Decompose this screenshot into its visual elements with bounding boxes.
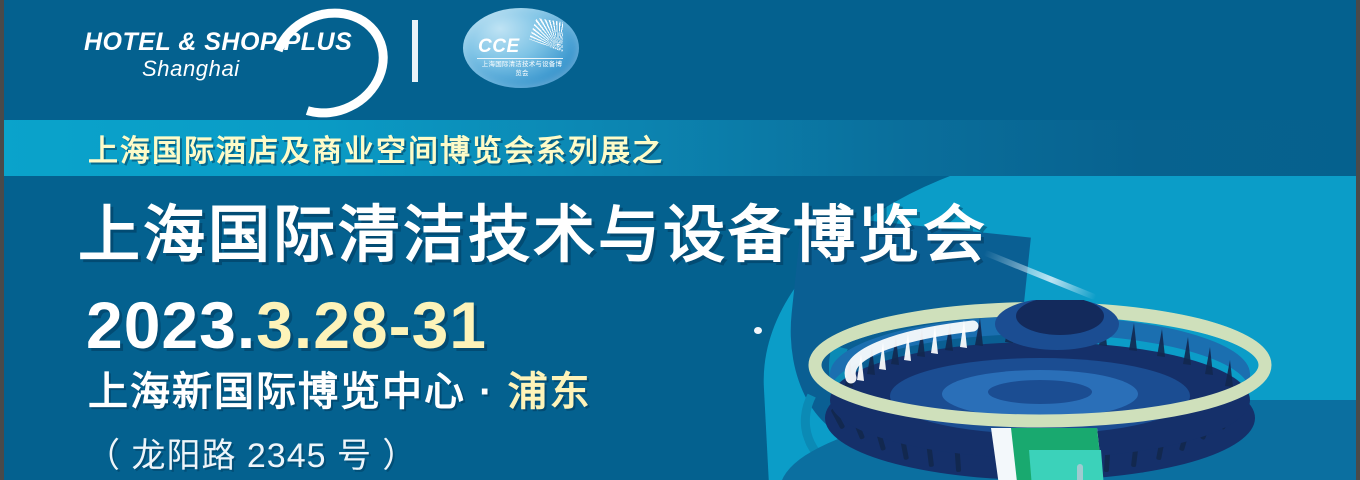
page-title: 上海国际清洁技术与设备博览会 [78, 184, 988, 274]
cce-rule [477, 58, 563, 59]
event-date-range: 3.28-31 [256, 288, 487, 362]
event-date-year: 2023. [86, 288, 256, 362]
event-venue-name: 上海新国际博览中心 · [88, 370, 494, 414]
cce-subtitle: 上海国际清洁技术与设备博览会 [479, 60, 565, 78]
logo-divider [412, 20, 418, 82]
event-address: （ 龙阳路 2345 号 ） [86, 428, 417, 477]
series-band: 上海国际酒店及商业空间博览会系列展之 [0, 120, 1360, 176]
event-venue-district: 浦东 [508, 370, 592, 414]
series-band-text: 上海国际酒店及商业空间博览会系列展之 [88, 126, 664, 170]
hotel-shop-plus-wordmark: HOTEL & SHOP PLUS [84, 28, 352, 57]
frame-left [0, 0, 4, 480]
event-date: 2023.3.28-31 [86, 292, 487, 358]
exhibition-banner: 上海国际酒店及商业空间博览会系列展之 HOTEL & SHOP PLUS Sha… [0, 0, 1360, 480]
cce-acronym: CCE [478, 36, 520, 58]
logo-row: HOTEL & SHOP PLUS Shanghai CCE 上海国际清洁技术与… [0, 0, 700, 100]
frame-right [1356, 0, 1360, 480]
event-venue: 上海新国际博览中心 · 浦东 [88, 372, 592, 412]
hotel-shop-plus-city: Shanghai [142, 56, 240, 82]
cce-fan-icon [529, 18, 563, 52]
floor-scrubber-brush-illustration [805, 300, 1275, 480]
cce-logo[interactable]: CCE 上海国际清洁技术与设备博览会 [463, 8, 579, 88]
hotel-shop-plus-logo[interactable]: HOTEL & SHOP PLUS Shanghai [84, 22, 374, 84]
sparkle-dot-icon [754, 327, 762, 334]
